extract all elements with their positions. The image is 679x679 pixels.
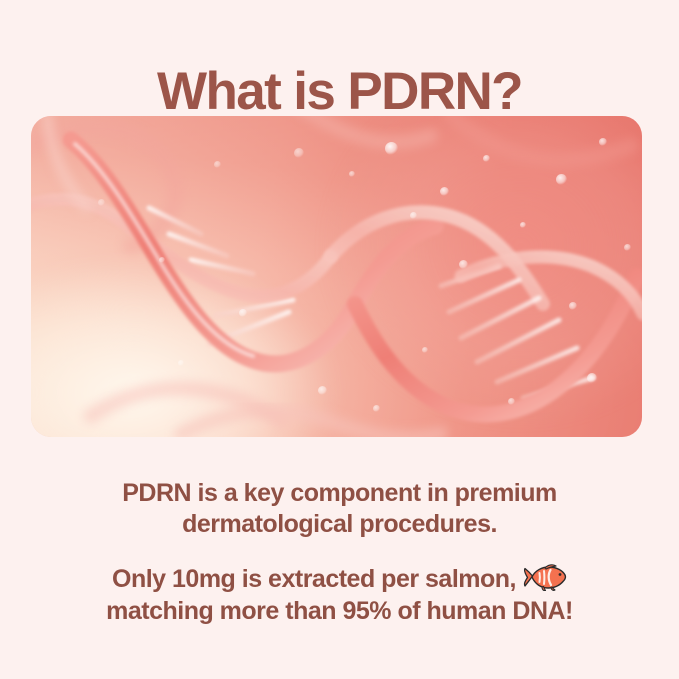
caption-secondary: Only 10mg is extracted per salmon,: [0, 563, 679, 627]
caption-primary-line-2: dermatological procedures.: [0, 509, 679, 540]
hero-vignette: [31, 116, 642, 437]
caption-secondary-line-1: Only 10mg is extracted per salmon,: [112, 563, 516, 595]
pdrn-infographic: What is PDRN?: [0, 0, 679, 679]
page-title: What is PDRN?: [0, 64, 679, 120]
caption-secondary-line-2: matching more than 95% of human DNA!: [0, 595, 679, 627]
caption-primary: PDRN is a key component in premium derma…: [0, 478, 679, 539]
caption-secondary-line-1-wrapper: Only 10mg is extracted per salmon,: [112, 563, 567, 595]
salmon-fish-icon: [523, 564, 567, 591]
caption-primary-line-1: PDRN is a key component in premium: [0, 478, 679, 509]
hero-dna-image: [31, 116, 642, 437]
